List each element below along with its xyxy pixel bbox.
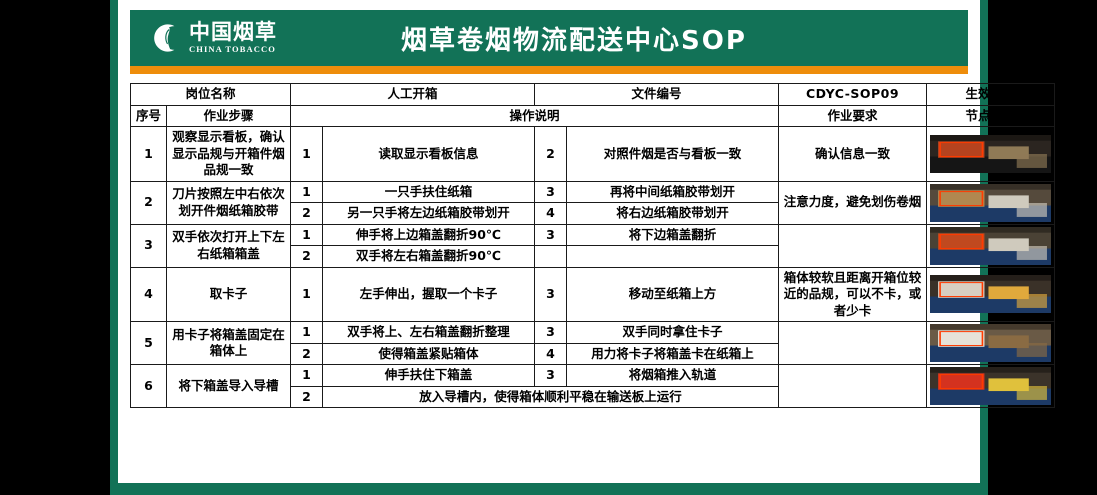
table-meta-row: 岗位名称人工开箱文件编号CDYC-SOP09生效日期: [131, 84, 1055, 106]
row-step: 将下箱盖导入导槽: [167, 365, 291, 408]
row-requirement: 箱体较软且距离开箱位较近的品规，可以不卡，或者少卡: [779, 267, 927, 322]
op-number: 3: [535, 365, 567, 387]
op-number: 1: [291, 127, 323, 182]
table-row: 2刀片按照左中右依次划开件烟纸箱胶带1一只手扶住纸箱3再将中间纸箱胶带划开注意力…: [131, 181, 1055, 203]
opening-flaps-photo: [930, 227, 1051, 265]
op-text: 读取显示看板信息: [323, 127, 535, 182]
row-requirement: [779, 224, 927, 267]
row-step: 观察显示看板，确认显示品规与开箱件烟品规一致: [167, 127, 291, 182]
op-text: 伸手扶住下箱盖: [323, 365, 535, 387]
brand-name-en: CHINA TOBACCO: [189, 45, 277, 54]
brand-logo-text: 中国烟草 CHINA TOBACCO: [189, 22, 277, 54]
op-number: 2: [291, 246, 323, 268]
row-photo-cell: [927, 365, 1055, 408]
table-row: 1观察显示看板，确认显示品规与开箱件烟品规一致1读取显示看板信息2对照件烟是否与…: [131, 127, 1055, 182]
op-text: 再将中间纸箱胶带划开: [567, 181, 779, 203]
op-text: 将下边箱盖翻折: [567, 224, 779, 246]
row-seq: 2: [131, 181, 167, 224]
op-text: 将右边纸箱胶带划开: [567, 203, 779, 225]
op-text: 左手伸出，握取一个卡子: [323, 267, 535, 322]
col-header-seq: 序号: [131, 105, 167, 127]
post-label: 岗位名称: [131, 84, 291, 106]
op-text: 一只手扶住纸箱: [323, 181, 535, 203]
op-number: 2: [291, 386, 323, 408]
row-step: 双手依次打开上下左右纸箱箱盖: [167, 224, 291, 267]
header-banner: 中国烟草 CHINA TOBACCO 烟草卷烟物流配送中心SOP: [130, 10, 968, 66]
document-frame: 中国烟草 CHINA TOBACCO 烟草卷烟物流配送中心SOP: [110, 0, 988, 495]
row-seq: 5: [131, 322, 167, 365]
table-row: 5用卡子将箱盖固定在箱体上1双手将上、左右箱盖翻折整理3双手同时拿住卡子: [131, 322, 1055, 344]
clipping-box-photo: [930, 324, 1051, 362]
doc-value: CDYC-SOP09: [779, 84, 927, 106]
row-seq: 1: [131, 127, 167, 182]
banner-accent-bar: [130, 66, 968, 74]
col-header-step: 作业步骤: [167, 105, 291, 127]
col-header-icon: 节点图标: [927, 105, 1055, 127]
row-photo-cell: [927, 127, 1055, 182]
cutting-tape-photo: [930, 184, 1051, 222]
row-requirement: [779, 322, 927, 365]
document-page: 中国烟草 CHINA TOBACCO 烟草卷烟物流配送中心SOP: [118, 0, 980, 483]
sop-table-body: 岗位名称人工开箱文件编号CDYC-SOP09生效日期序号作业步骤操作说明作业要求…: [131, 84, 1055, 408]
row-photo-cell: [927, 224, 1055, 267]
col-header-requirement: 作业要求: [779, 105, 927, 127]
row-step: 取卡子: [167, 267, 291, 322]
brand-logo: 中国烟草 CHINA TOBACCO: [130, 21, 330, 55]
guide-slot-photo: [930, 367, 1051, 405]
china-tobacco-emblem-icon: [148, 21, 182, 55]
op-number: 3: [535, 267, 567, 322]
op-number: 2: [291, 203, 323, 225]
screenshot-root: 中国烟草 CHINA TOBACCO 烟草卷烟物流配送中心SOP: [0, 0, 1097, 495]
row-requirement: 注意力度，避免划伤卷烟: [779, 181, 927, 224]
op-text: 使得箱盖紧贴箱体: [323, 343, 535, 365]
row-requirement: 确认信息一致: [779, 127, 927, 182]
brand-name-cn: 中国烟草: [189, 22, 277, 43]
op-text: 放入导槽内，使得箱体顺利平稳在输送板上运行: [323, 386, 779, 408]
table-row: 3双手依次打开上下左右纸箱箱盖1伸手将上边箱盖翻折90℃3将下边箱盖翻折: [131, 224, 1055, 246]
row-step: 用卡子将箱盖固定在箱体上: [167, 322, 291, 365]
op-text: 伸手将上边箱盖翻折90℃: [323, 224, 535, 246]
op-number: 1: [291, 224, 323, 246]
op-number: 1: [291, 267, 323, 322]
row-photo-cell: [927, 181, 1055, 224]
op-text: 对照件烟是否与看板一致: [567, 127, 779, 182]
effective-date-label: 生效日期: [927, 84, 1055, 106]
row-requirement: [779, 365, 927, 408]
row-seq: 4: [131, 267, 167, 322]
row-seq: 6: [131, 365, 167, 408]
page-title: 烟草卷烟物流配送中心SOP: [330, 20, 968, 57]
picking-clip-photo: [930, 275, 1051, 313]
op-number: 4: [535, 203, 567, 225]
sop-table: 岗位名称人工开箱文件编号CDYC-SOP09生效日期序号作业步骤操作说明作业要求…: [130, 83, 1055, 408]
op-text: 将烟箱推入轨道: [567, 365, 779, 387]
row-photo-cell: [927, 267, 1055, 322]
table-row: 4取卡子1左手伸出，握取一个卡子3移动至纸箱上方箱体较软且距离开箱位较近的品规，…: [131, 267, 1055, 322]
op-text: 双手同时拿住卡子: [567, 322, 779, 344]
op-number: 2: [291, 343, 323, 365]
row-seq: 3: [131, 224, 167, 267]
post-value: 人工开箱: [291, 84, 535, 106]
op-number: 1: [291, 365, 323, 387]
table-header-row: 序号作业步骤操作说明作业要求节点图标: [131, 105, 1055, 127]
op-text: 双手将左右箱盖翻折90℃: [323, 246, 535, 268]
row-photo-cell: [927, 322, 1055, 365]
op-number: 3: [535, 224, 567, 246]
op-number: 4: [535, 343, 567, 365]
table-row: 6将下箱盖导入导槽1伸手扶住下箱盖3将烟箱推入轨道: [131, 365, 1055, 387]
op-number: [535, 246, 567, 268]
op-text: 用力将卡子将箱盖卡在纸箱上: [567, 343, 779, 365]
op-number: 1: [291, 322, 323, 344]
row-step: 刀片按照左中右依次划开件烟纸箱胶带: [167, 181, 291, 224]
op-text: 另一只手将左边纸箱胶带划开: [323, 203, 535, 225]
op-number: 3: [535, 181, 567, 203]
kanban-display-photo: [930, 135, 1051, 173]
op-text: [567, 246, 779, 268]
op-number: 2: [535, 127, 567, 182]
op-text: 移动至纸箱上方: [567, 267, 779, 322]
doc-label: 文件编号: [535, 84, 779, 106]
col-header-operation: 操作说明: [291, 105, 779, 127]
op-text: 双手将上、左右箱盖翻折整理: [323, 322, 535, 344]
op-number: 1: [291, 181, 323, 203]
op-number: 3: [535, 322, 567, 344]
